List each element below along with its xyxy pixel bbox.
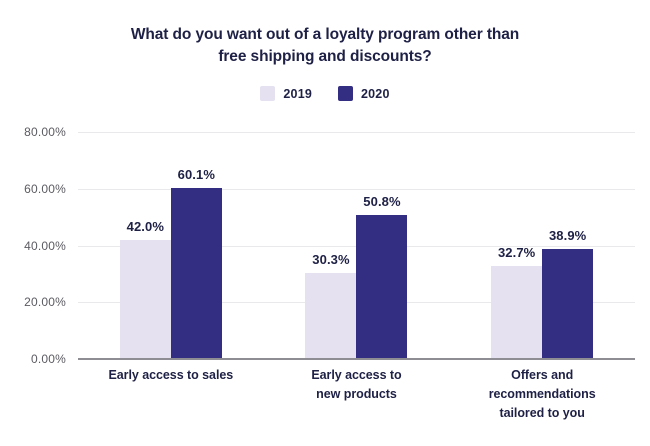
chart-legend: 20192020 (0, 86, 650, 101)
y-axis-tick-label: 80.00% (24, 125, 66, 139)
legend-label: 2020 (361, 87, 390, 101)
x-axis-category-line: new products (264, 385, 450, 404)
bars-layer: 42.0%60.1%30.3%50.8%32.7%38.9% (78, 132, 635, 359)
x-axis-category-line: Early access to sales (78, 366, 264, 385)
x-axis-category-line: Early access to (264, 366, 450, 385)
bar-value-label: 50.8% (363, 194, 400, 209)
bar-value-label: 32.7% (498, 245, 535, 260)
bar-value-label: 60.1% (178, 167, 215, 182)
chart-title-line-1: What do you want out of a loyalty progra… (60, 24, 590, 46)
bar-rect (542, 249, 593, 359)
legend-item-2019[interactable]: 2019 (260, 86, 312, 101)
bar-group: 30.3%50.8% (264, 132, 450, 359)
x-axis-category-label: Early access tonew products (264, 366, 450, 404)
bar-rect (171, 188, 222, 359)
chart-title-line-2: free shipping and discounts? (60, 46, 590, 68)
x-axis-category-label: Early access to sales (78, 366, 264, 385)
legend-label: 2019 (283, 87, 312, 101)
legend-swatch-icon (338, 86, 353, 101)
y-axis: 0.00%20.00%40.00%60.00%80.00% (0, 132, 72, 359)
bar-2019[interactable]: 32.7% (491, 132, 542, 359)
bar-rect (356, 215, 407, 359)
x-axis-category-line: recommendations (449, 385, 635, 404)
bar-2020[interactable]: 60.1% (171, 132, 222, 359)
bar-rect (305, 273, 356, 359)
bar-chart: What do you want out of a loyalty progra… (0, 0, 650, 446)
x-axis-category-line: Offers and (449, 366, 635, 385)
bar-2019[interactable]: 42.0% (120, 132, 171, 359)
bar-rect (491, 266, 542, 359)
y-axis-tick-label: 20.00% (24, 295, 66, 309)
x-axis-line (78, 358, 635, 360)
plot-area: 42.0%60.1%30.3%50.8%32.7%38.9% (78, 132, 635, 359)
bar-2020[interactable]: 50.8% (356, 132, 407, 359)
bar-group: 42.0%60.1% (78, 132, 264, 359)
bar-value-label: 42.0% (127, 219, 164, 234)
legend-item-2020[interactable]: 2020 (338, 86, 390, 101)
chart-title: What do you want out of a loyalty progra… (60, 24, 590, 69)
legend-swatch-icon (260, 86, 275, 101)
bar-2020[interactable]: 38.9% (542, 132, 593, 359)
y-axis-tick-label: 60.00% (24, 182, 66, 196)
bar-2019[interactable]: 30.3% (305, 132, 356, 359)
x-axis-category-line: tailored to you (449, 404, 635, 423)
x-axis-category-label: Offers andrecommendationstailored to you (449, 366, 635, 422)
bar-value-label: 38.9% (549, 228, 586, 243)
y-axis-tick-label: 40.00% (24, 239, 66, 253)
bar-value-label: 30.3% (312, 252, 349, 267)
y-axis-tick-label: 0.00% (31, 352, 66, 366)
x-axis: Early access to salesEarly access tonew … (78, 366, 635, 436)
bar-rect (120, 240, 171, 359)
bar-group: 32.7%38.9% (449, 132, 635, 359)
